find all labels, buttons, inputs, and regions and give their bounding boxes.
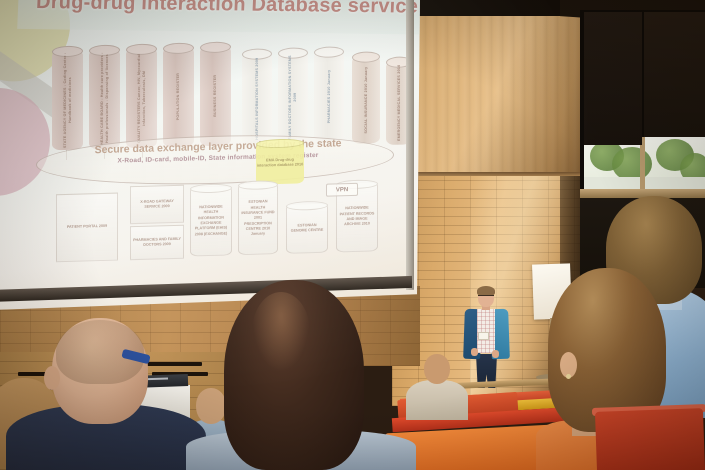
node-label: NATIONWIDE PATIENT RECORDS AND IMAGE ARC…: [339, 206, 375, 228]
window-blind-right[interactable]: [644, 12, 705, 137]
cylinder-cap: [314, 46, 344, 58]
node-label: HEALTH CARE BOARD - Health care provider…: [100, 51, 110, 147]
slide-node-business-register: BUSINESS REGISTER: [200, 45, 231, 146]
slide-node-family-doctors-information-systems: FAMILY DOCTORS INFORMATION SYSTEMS 2009: [278, 51, 308, 144]
slide-node-population-register: POPULATION REGISTER: [163, 46, 194, 147]
node-label: FAMILY DOCTORS INFORMATION SYSTEMS 2009: [288, 52, 298, 144]
node-label: NATIONWIDE HEALTH INFORMATION EXCHANGE P…: [193, 204, 229, 237]
audience-member-dark-hair-highlight: [252, 292, 310, 372]
lecture-hall-photo: Drug-drug Interaction Database service (…: [0, 0, 705, 470]
node-label: ESTONIAN HEALTH INSURANCE FUND 2001 PRES…: [241, 199, 275, 237]
slide-surface: Drug-drug Interaction Database service (…: [0, 0, 420, 310]
node-label: X-ROAD GATEWAY SERVICE 2009: [133, 198, 181, 210]
slide-node-patient-portal: PATIENT PORTAL 2009: [56, 193, 118, 263]
screen-edge-right: [406, 0, 414, 290]
slide-vpn-badge: VPN: [326, 183, 358, 197]
node-label: STATE AGENCY OF MEDICINES - Coding Centr…: [63, 52, 73, 148]
slide-node-social-insurance-board: SOCIAL INSURANCE 2010 January: [352, 55, 380, 144]
node-label: ESTONIAN GENOME CENTRE: [289, 222, 325, 234]
dark-upper-panel: [392, 0, 582, 16]
audience-member-beige-head: [424, 354, 450, 384]
presenter-hand-right: [492, 350, 499, 358]
slide-node-x-road-gateway-service: X-ROAD GATEWAY SERVICE 2009: [130, 185, 184, 225]
earring-icon: [566, 374, 571, 379]
desk-slot: [140, 362, 202, 366]
audience-member-mid-head: [196, 388, 226, 424]
node-label: PHARMACIES 2010 January: [327, 70, 332, 124]
slide-node-estonian-genome-centre: ESTONIAN GENOME CENTRE: [286, 203, 328, 254]
node-label: BUSINESS REGISTER: [213, 75, 218, 117]
audience-member-beige-body: [406, 380, 468, 420]
node-label: PATIENT PORTAL 2009: [67, 224, 107, 230]
node-label: HOSPITALS INFORMATION SYSTEMS 2009: [255, 58, 260, 140]
slide-node-estonian-health-insurance-fund: ESTONIAN HEALTH INSURANCE FUND 2001 PRES…: [238, 182, 278, 255]
cylinder-cap: [163, 42, 194, 54]
node-label: POPULATION REGISTER: [176, 73, 181, 121]
slide-node-state-agency-of-medicines: STATE AGENCY OF MEDICINES - Coding Centr…: [52, 50, 83, 151]
window-blind-left[interactable]: [584, 12, 642, 145]
wood-wall-shadow: [392, 16, 582, 176]
presenter-shirt: [477, 309, 495, 353]
chair-back-red: [595, 408, 705, 470]
node-label: SOCIAL INSURANCE 2010 January: [364, 66, 369, 133]
slide-node-nationwide-health-information-exchange: NATIONWIDE HEALTH INFORMATION EXCHANGE P…: [190, 185, 232, 256]
cylinder-cap: [256, 138, 304, 148]
glasses-icon: [478, 295, 494, 299]
slide-node-ddi-database: EMA Drug-drug interaction database 2016: [256, 141, 304, 184]
slide-node-hospitals-information-systems: HOSPITALS INFORMATION SYSTEMS 2009: [242, 52, 272, 145]
presenter: [462, 288, 514, 388]
slide-node-quality-registers: QUALITY REGISTERS Cancer, HIV, Myocardia…: [126, 47, 157, 148]
cylinder-cap: [352, 51, 380, 63]
slide-node-pharmacies: PHARMACIES 2010 January: [314, 50, 344, 143]
node-label: PHARMACIES AND FAMILY DOCTORS 2009: [133, 236, 181, 248]
cylinder-cap: [200, 41, 231, 53]
audience-member-bald-ear: [44, 366, 60, 390]
presenter-name-badge: [478, 332, 489, 340]
node-label: EMERGENCY MEDICAL SERVICES 2010: [397, 64, 402, 140]
foliage-icon: [612, 147, 652, 181]
slide-node-health-care-board: HEALTH CARE BOARD - Health care provider…: [89, 48, 120, 149]
node-label: QUALITY REGISTERS Cancer, HIV, Myocardia…: [137, 50, 147, 146]
presenter-hand-left: [471, 348, 478, 356]
projection-screen: Drug-drug Interaction Database service (…: [0, 0, 420, 310]
node-label: EMA Drug-drug interaction database 2016: [256, 157, 304, 169]
slide-node-pharmacies-and-family-doctors: PHARMACIES AND FAMILY DOCTORS 2009: [130, 225, 184, 261]
